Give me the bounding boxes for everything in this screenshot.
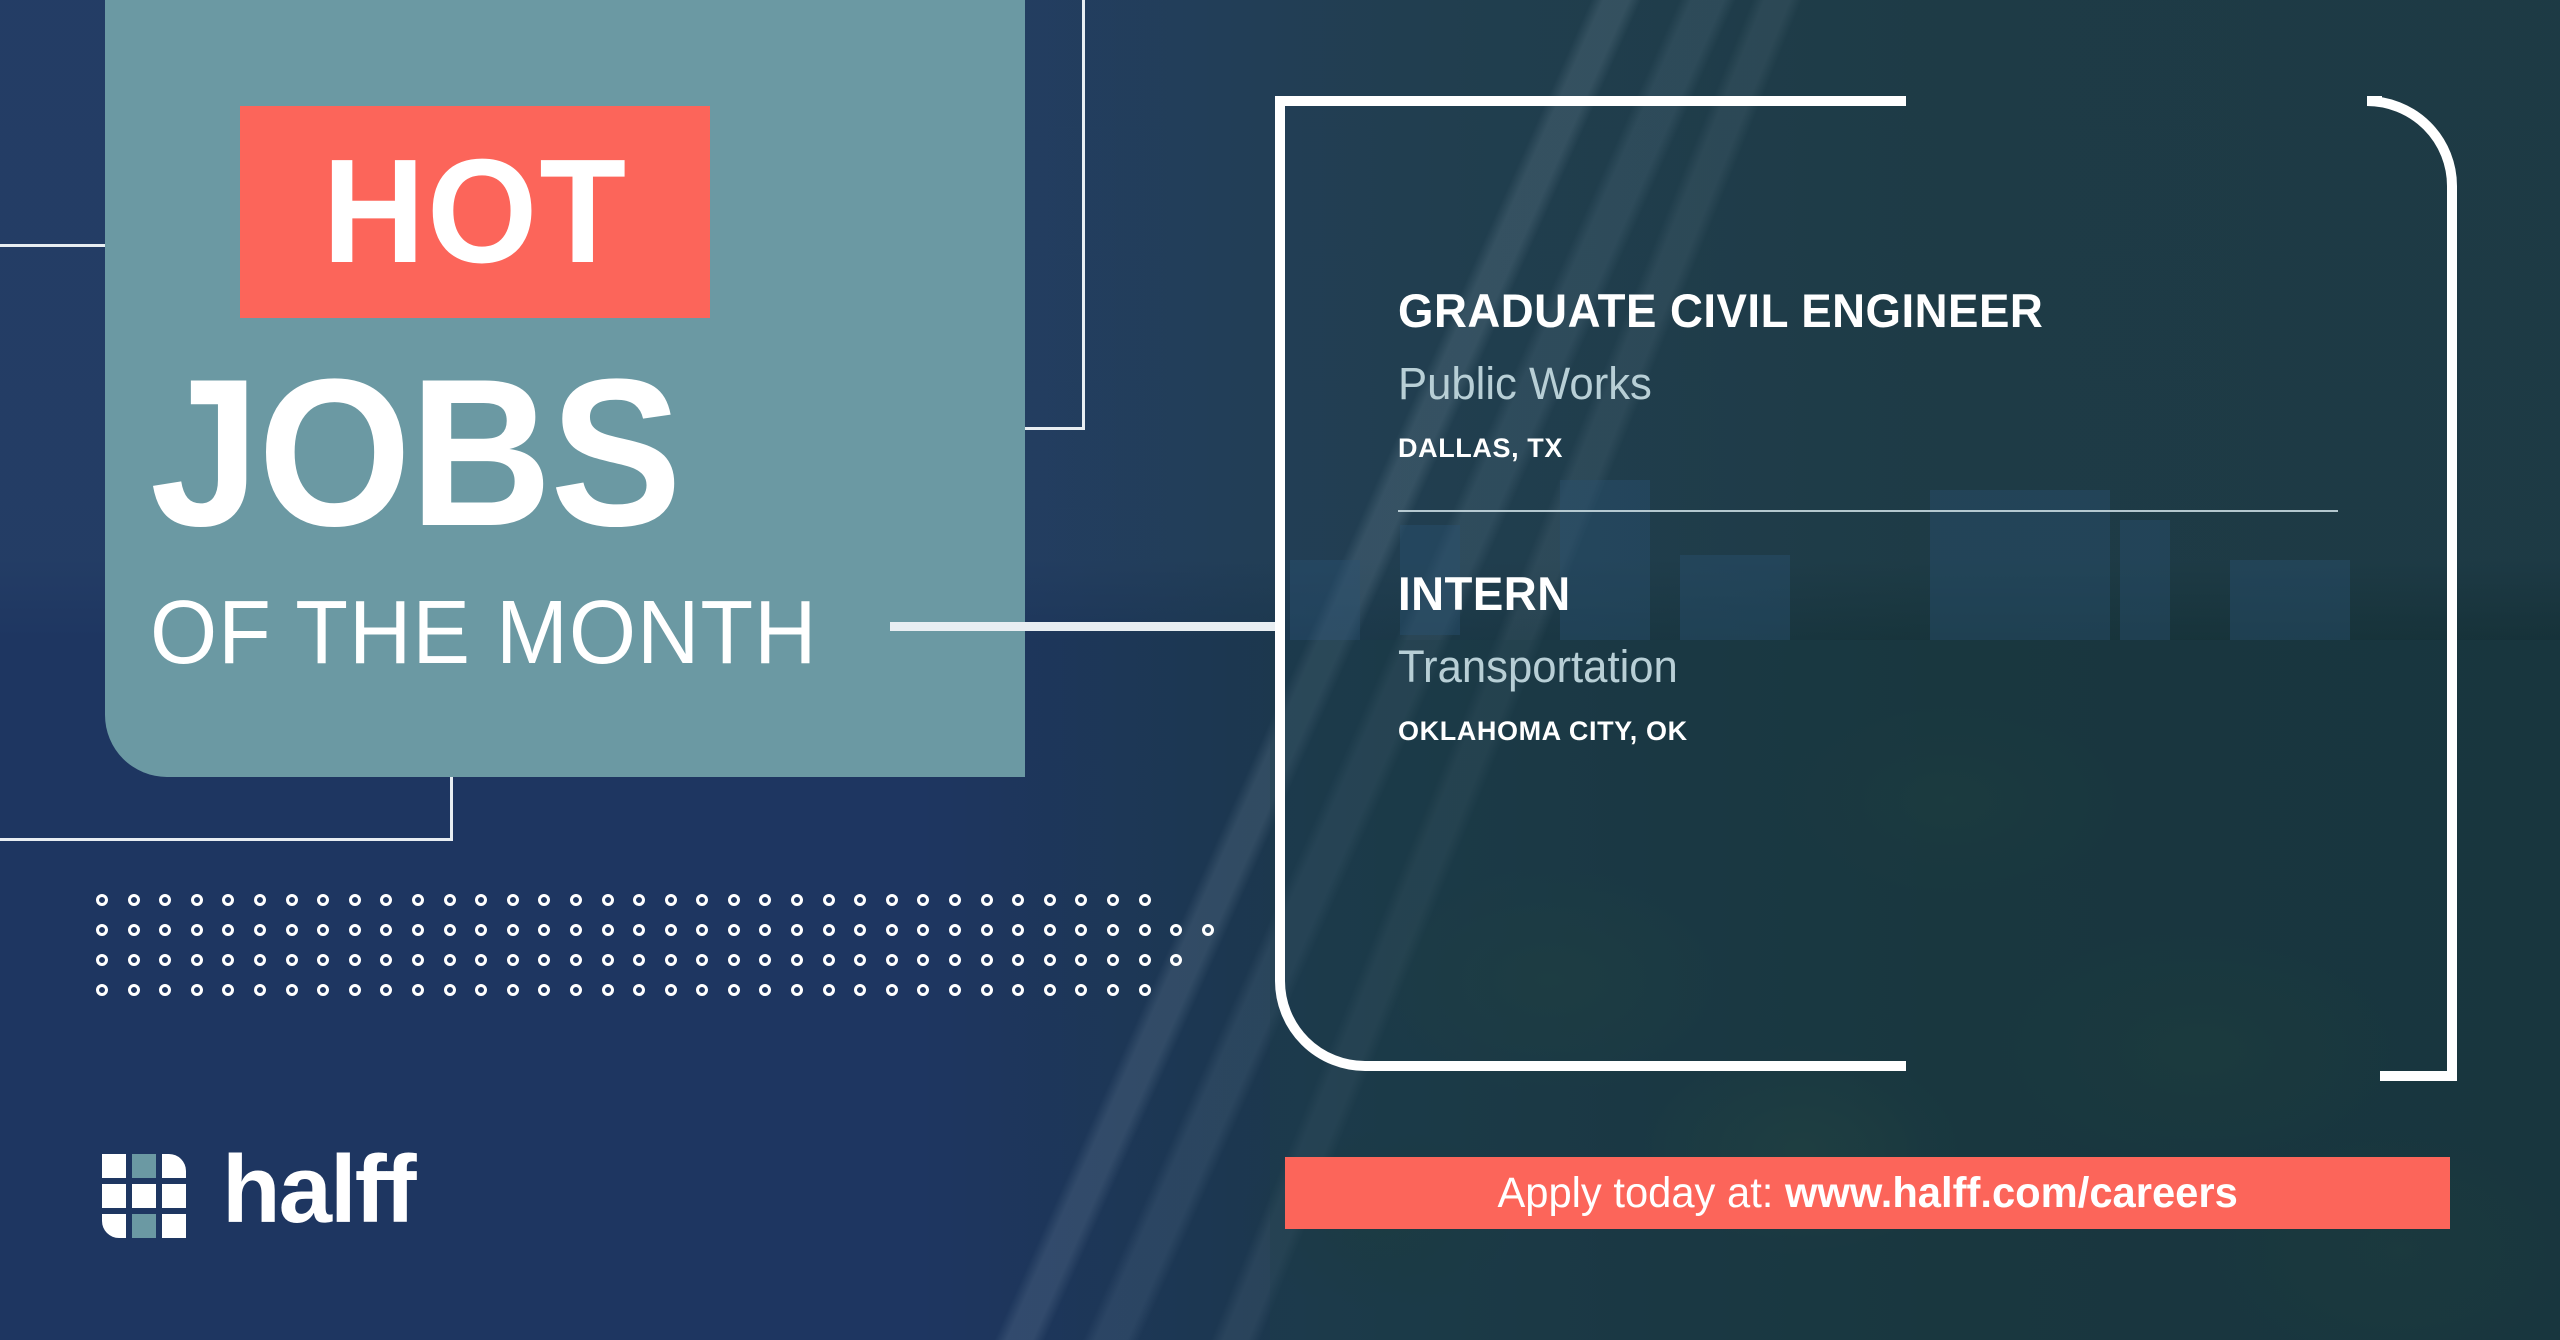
dot [1044,954,1056,966]
dot [538,924,550,936]
dot [191,954,203,966]
apply-cta-url: www.halff.com/careers [1785,1169,2238,1217]
dot [475,894,487,906]
grid-cell [102,1184,126,1208]
job-divider [1398,510,2338,512]
halff-wordmark: halff [222,1142,415,1238]
dot [791,984,803,996]
job-title: GRADUATE CIVIL ENGINEER [1398,285,2329,337]
dot [349,984,361,996]
dot [981,924,993,936]
dot [1044,894,1056,906]
dot [96,984,108,996]
dot-row [96,954,1233,966]
frame-line-upper-horizontal [1020,427,1085,430]
dot [159,954,171,966]
dot [1044,984,1056,996]
dot [286,924,298,936]
dot [349,924,361,936]
dot [949,894,961,906]
grid-cell [162,1214,186,1238]
dot [286,894,298,906]
dot [507,984,519,996]
frame-line-lower-horizontal [0,838,453,841]
dot [602,924,614,936]
dot [1075,954,1087,966]
dot [917,894,929,906]
grid-cell [162,1154,186,1178]
dot [917,984,929,996]
dot [854,924,866,936]
dot [1107,894,1119,906]
job-department: Transportation [1398,642,2329,692]
dot [696,954,708,966]
dot [759,984,771,996]
dot [222,924,234,936]
dot [917,954,929,966]
dot [444,984,456,996]
dot [96,924,108,936]
dot [1044,924,1056,936]
dot [949,984,961,996]
job-listing-item[interactable]: INTERN Transportation OKLAHOMA CITY, OK [1398,568,2358,747]
dot [159,984,171,996]
apply-cta-text: Apply today at: www.halff.com/careers [1497,1172,2237,1215]
dot [96,894,108,906]
dot [507,924,519,936]
dot [696,924,708,936]
dot [128,894,140,906]
dot [1012,984,1024,996]
dot [791,924,803,936]
grid-cell [132,1184,156,1208]
dot [602,954,614,966]
dot [665,924,677,936]
dot [222,894,234,906]
dot [412,894,424,906]
dot [791,894,803,906]
dot [317,924,329,936]
dot [1012,954,1024,966]
dot [128,984,140,996]
dot [886,924,898,936]
dot [538,894,550,906]
dot [728,954,740,966]
dot [823,954,835,966]
frame-line-lower-vertical [450,777,453,841]
dot [949,954,961,966]
dot [1139,984,1151,996]
dot [475,954,487,966]
dot [317,894,329,906]
dot [507,954,519,966]
dot [286,954,298,966]
dot [1170,954,1182,966]
halff-logo: halff [102,1148,415,1244]
dot [854,954,866,966]
dot [570,954,582,966]
apply-cta-bar[interactable]: Apply today at: www.halff.com/careers [1285,1157,2450,1229]
frame-line-left-horizontal [0,244,110,247]
grid-cell [162,1184,186,1208]
dot [1075,984,1087,996]
dot [191,894,203,906]
job-title: INTERN [1398,568,2329,620]
dot [1139,924,1151,936]
dot [1139,954,1151,966]
dot [665,954,677,966]
dot [570,984,582,996]
dot [1075,924,1087,936]
dot [823,894,835,906]
dot [349,954,361,966]
dot [949,924,961,936]
dot [191,984,203,996]
dot [854,984,866,996]
dot [349,894,361,906]
dot [412,984,424,996]
dot [222,984,234,996]
dot [602,984,614,996]
dot [696,894,708,906]
dot-row [96,984,1233,996]
dot [444,894,456,906]
dot [159,894,171,906]
dot [886,894,898,906]
grid-cell [102,1154,126,1178]
dot [222,954,234,966]
dot [1139,894,1151,906]
dot [728,984,740,996]
dot [380,984,392,996]
hot-badge-label: HOT [322,138,628,286]
dot [981,894,993,906]
dot [570,894,582,906]
dot [633,924,645,936]
dot [665,984,677,996]
dot-grid-decoration [96,894,1233,1014]
dot [981,954,993,966]
dot [538,984,550,996]
dot [981,984,993,996]
apply-cta-prefix: Apply today at: [1497,1169,1785,1217]
dot [1202,924,1214,936]
dot [380,954,392,966]
grid-cell-accent [132,1214,156,1238]
dot [128,954,140,966]
job-location: DALLAS, TX [1398,434,2358,464]
dot [538,954,550,966]
page-title: JOBS [150,348,680,558]
dot [823,984,835,996]
dot [759,924,771,936]
dot [380,894,392,906]
dot [159,924,171,936]
dot [633,894,645,906]
dot [444,924,456,936]
dot [791,954,803,966]
poster-canvas: HOT JOBS OF THE MONTH GRADUATE CIVIL ENG… [0,0,2560,1340]
frame-line-top-vertical [1082,0,1085,430]
dot [1012,924,1024,936]
dot [759,894,771,906]
dot [1107,954,1119,966]
dot [380,924,392,936]
dot [854,894,866,906]
dot [128,924,140,936]
dot [728,924,740,936]
dot [412,924,424,936]
dot [254,954,266,966]
dot [1012,894,1024,906]
dot [475,984,487,996]
dot [507,894,519,906]
dot [728,894,740,906]
dot [317,984,329,996]
halff-grid-icon [102,1154,186,1238]
dot [317,954,329,966]
dot [917,924,929,936]
job-department: Public Works [1398,359,2329,409]
dot [759,954,771,966]
dot [191,924,203,936]
dot [96,954,108,966]
dot [254,984,266,996]
dot [286,984,298,996]
headline-connector-line [890,622,1280,631]
grid-cell [102,1214,126,1238]
dot [633,984,645,996]
dot [254,924,266,936]
dot [1107,924,1119,936]
dot [1107,984,1119,996]
hot-badge: HOT [240,106,710,318]
dot [823,924,835,936]
dot [254,894,266,906]
dot [1075,894,1087,906]
dot-row [96,894,1233,906]
page-subtitle: OF THE MONTH [150,588,818,678]
dot [1170,924,1182,936]
dot [602,894,614,906]
job-listings: GRADUATE CIVIL ENGINEER Public Works DAL… [1398,285,2358,747]
job-location: OKLAHOMA CITY, OK [1398,717,2358,747]
dot [886,984,898,996]
dot [665,894,677,906]
grid-cell-accent [132,1154,156,1178]
dot-row [96,924,1233,936]
dot [886,954,898,966]
dot [696,984,708,996]
dot [444,954,456,966]
dot [570,924,582,936]
dot [633,954,645,966]
dot [412,954,424,966]
dot [475,924,487,936]
job-listing-item[interactable]: GRADUATE CIVIL ENGINEER Public Works DAL… [1398,285,2358,464]
